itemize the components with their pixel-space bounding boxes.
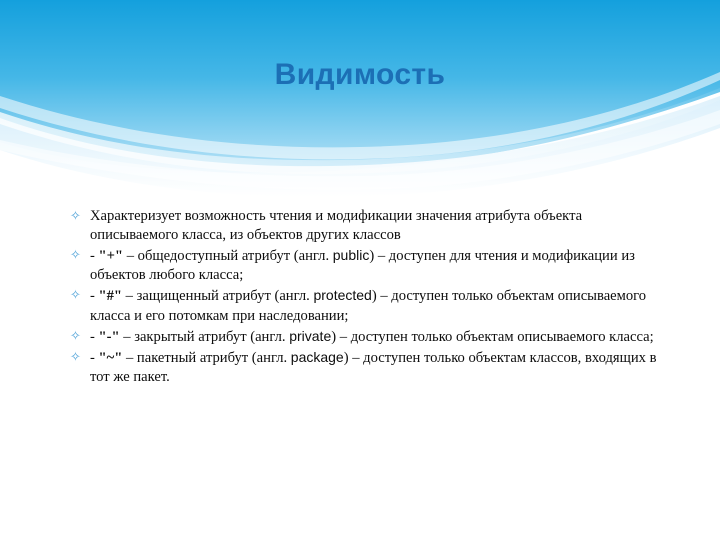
list-item: ✧ Характеризует возможность чтения и мод…	[68, 207, 664, 245]
bullet-text-1: - "+" – общедоступный атрибут (англ. pub…	[90, 248, 635, 283]
bullet-marker-icon: ✧	[70, 246, 81, 264]
slide: Видимость ✧ Характеризует возможность чт…	[0, 0, 720, 540]
list-item: ✧ - "#" – защищенный атрибут (англ. prot…	[68, 286, 664, 325]
list-item: ✧ - "+" – общедоступный атрибут (англ. p…	[68, 246, 664, 285]
list-item: ✧ - "-" – закрытый атрибут (англ. privat…	[68, 327, 664, 347]
list-item: ✧ - "~" – пакетный атрибут (англ. packag…	[68, 348, 664, 387]
bullet-marker-icon: ✧	[70, 286, 81, 304]
bullet-text-4: - "~" – пакетный атрибут (англ. package)…	[90, 350, 657, 385]
slide-title: Видимость	[0, 58, 720, 92]
bullet-marker-icon: ✧	[70, 327, 81, 345]
bullet-marker-icon: ✧	[70, 207, 81, 225]
slide-body: ✧ Характеризует возможность чтения и мод…	[68, 207, 664, 388]
decorative-banner	[0, 0, 720, 200]
bullet-text-2: - "#" – защищенный атрибут (англ. protec…	[90, 288, 646, 323]
bullet-marker-icon: ✧	[70, 348, 81, 366]
bullet-text-3: - "-" – закрытый атрибут (англ. private)…	[90, 329, 654, 345]
bullet-text-0: Характеризует возможность чтения и модиф…	[90, 208, 582, 243]
bullet-list: ✧ Характеризует возможность чтения и мод…	[68, 207, 664, 387]
